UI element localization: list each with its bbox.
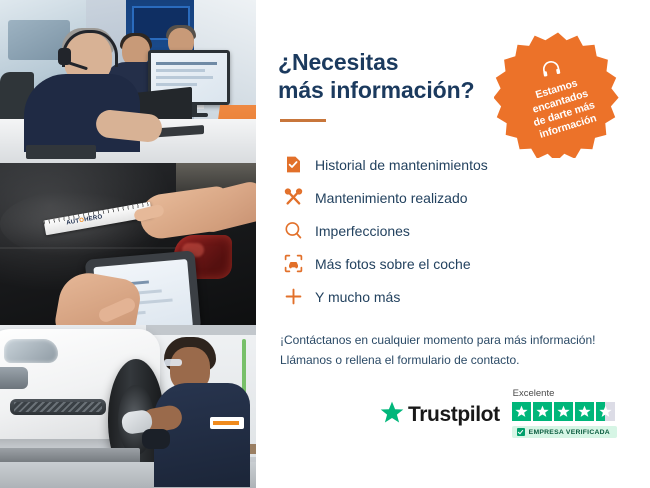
document-check-icon: [278, 155, 308, 174]
headline-line-2: más información?: [278, 77, 475, 103]
list-item: Más fotos sobre el coche: [278, 247, 626, 280]
trustpilot-stars: [512, 402, 615, 421]
feature-label: Imperfecciones: [315, 224, 410, 238]
page-title: ¿Necesitas más información?: [278, 48, 508, 104]
feature-label: Mantenimiento realizado: [315, 191, 468, 205]
magnifier-icon: [278, 221, 308, 240]
contact-text: ¡Contáctanos en cualquier momento para m…: [280, 331, 625, 370]
plus-icon: [278, 287, 308, 306]
badge-text: Estamos encantados de darte más informac…: [509, 70, 616, 147]
trustpilot-rating-label: Excelente: [513, 388, 555, 399]
mechanic-wheel-photo: [0, 325, 256, 488]
information-banner: AUTOHERO: [0, 0, 650, 488]
feature-label: Más fotos sobre el coche: [315, 257, 471, 271]
star-icon-filled: [575, 402, 594, 421]
star-icon-filled: [554, 402, 573, 421]
verified-label: EMPRESA VERIFICADA: [529, 429, 610, 436]
star-icon-filled: [533, 402, 552, 421]
feature-label: Historial de mantenimientos: [315, 158, 488, 172]
car-scan-icon: [278, 254, 308, 273]
trustpilot-name: Trustpilot: [408, 403, 500, 427]
contact-line-2: Llámanos o rellena el formulario de cont…: [280, 351, 625, 370]
info-badge: Estamos encantados de darte más informac…: [494, 30, 622, 158]
trustpilot-logo: Trustpilot: [380, 401, 500, 429]
check-icon: [517, 428, 525, 436]
trustpilot-star-icon: [380, 401, 404, 429]
trustpilot-score-block: Excelente EMPRESA: [512, 388, 617, 438]
call-center-agents-photo: [0, 0, 256, 163]
star-icon-half: [596, 402, 615, 421]
wrench-screwdriver-icon: [278, 188, 308, 207]
list-item: Mantenimiento realizado: [278, 181, 626, 214]
verified-business-badge: EMPRESA VERIFICADA: [512, 426, 617, 438]
feature-label: Y mucho más: [315, 290, 400, 304]
star-icon-filled: [512, 402, 531, 421]
trustpilot-rating[interactable]: Trustpilot Excelente: [380, 388, 617, 438]
list-item: Y mucho más: [278, 280, 626, 313]
car-inspection-ruler-photo: AUTOHERO: [0, 163, 256, 326]
headset-icon: [539, 59, 564, 85]
feature-list: Historial de mantenimientos Mantenimient…: [278, 148, 626, 313]
contact-line-1: ¡Contáctanos en cualquier momento para m…: [280, 331, 625, 350]
headline-line-1: ¿Necesitas: [278, 49, 398, 75]
photo-column: AUTOHERO: [0, 0, 256, 488]
list-item: Imperfecciones: [278, 214, 626, 247]
title-underline: [280, 119, 326, 122]
